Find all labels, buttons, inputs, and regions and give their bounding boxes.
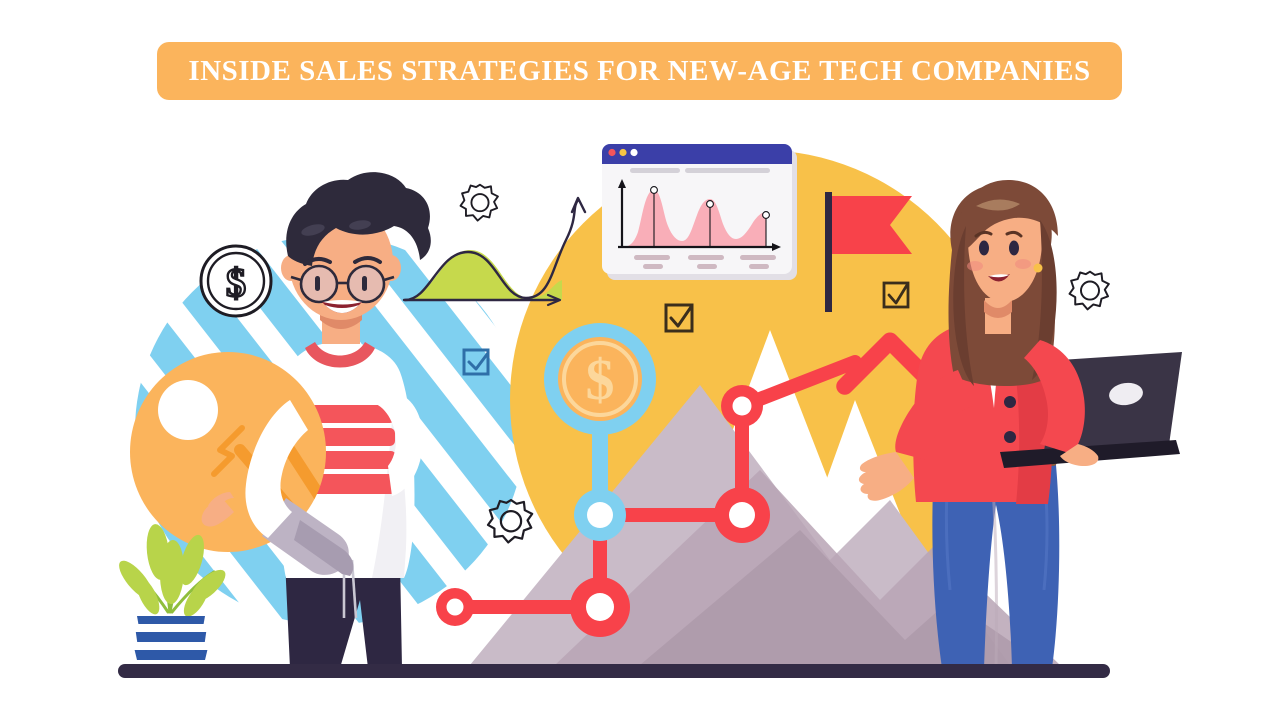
dollar-coin-outline-icon: $ bbox=[201, 246, 271, 316]
maximize-dot-icon bbox=[630, 149, 637, 156]
svg-text:$: $ bbox=[586, 347, 615, 412]
network-node bbox=[436, 588, 474, 626]
illustration-canvas: INSIDE SALES STRATEGIES FOR NEW-AGE TECH… bbox=[0, 0, 1280, 720]
browser-titlebar bbox=[602, 144, 792, 164]
browser-window-dots bbox=[608, 149, 637, 156]
browser-chart-window[interactable] bbox=[602, 144, 797, 280]
network-node bbox=[570, 577, 630, 637]
gear-icon bbox=[1070, 272, 1109, 310]
gear-icon bbox=[461, 185, 498, 221]
svg-text:$: $ bbox=[226, 260, 246, 305]
network-node bbox=[721, 385, 763, 427]
main-illustration: $ $ bbox=[0, 0, 1280, 720]
growth-area-chart bbox=[404, 198, 585, 305]
floor-bar bbox=[118, 664, 1110, 678]
minimize-dot-icon bbox=[619, 149, 626, 156]
network-node-active bbox=[574, 489, 626, 541]
close-dot-icon bbox=[608, 149, 615, 156]
network-node bbox=[714, 487, 770, 543]
